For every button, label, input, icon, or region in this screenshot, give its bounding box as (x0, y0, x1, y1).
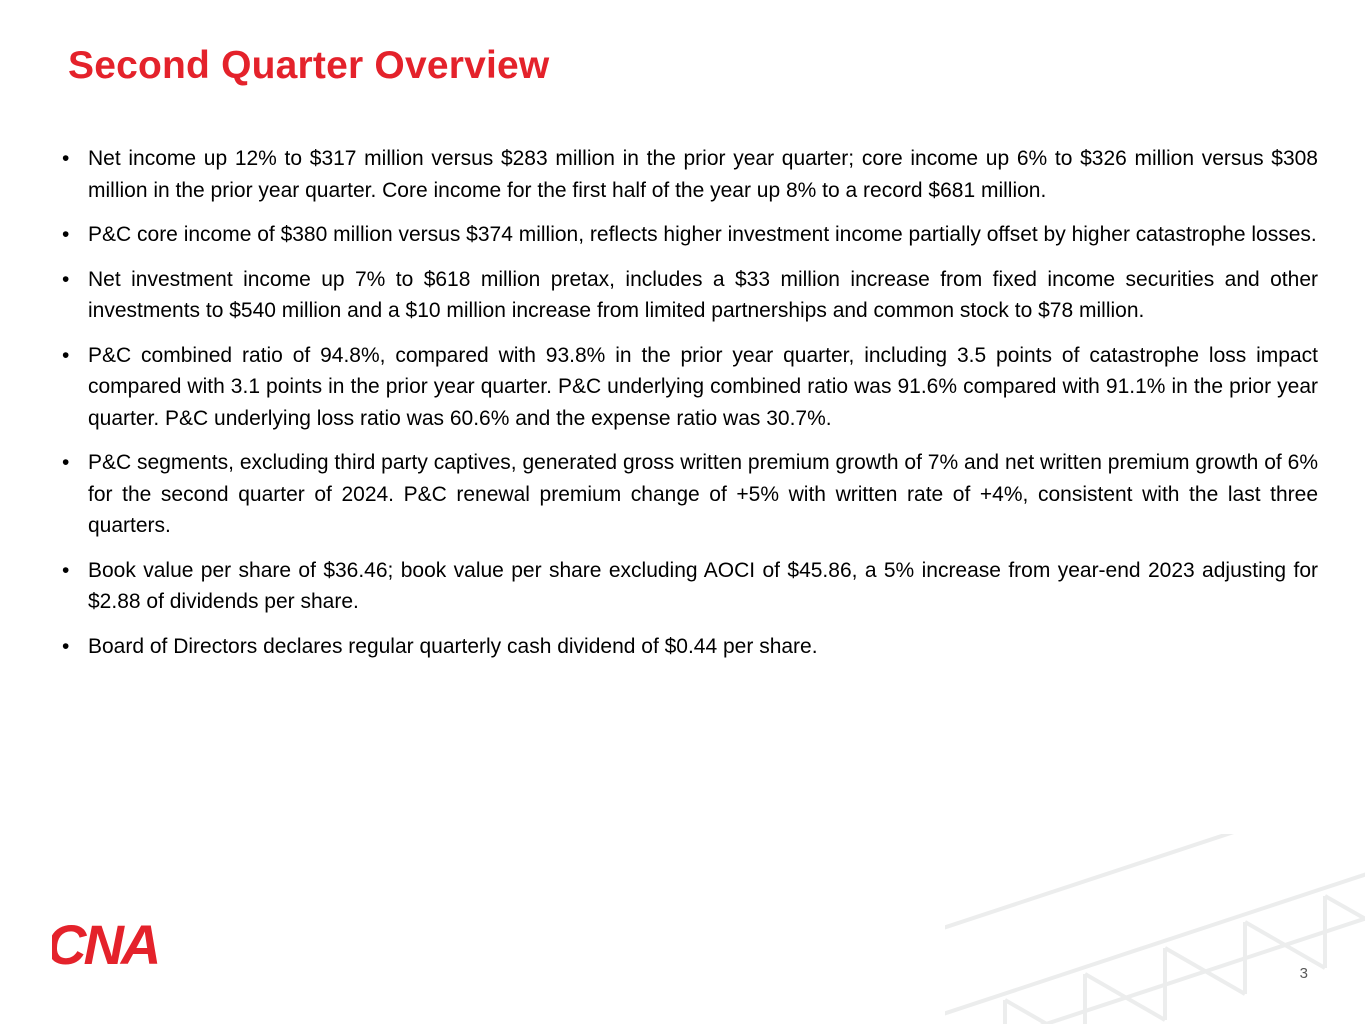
list-item: • Net investment income up 7% to $618 mi… (56, 264, 1318, 327)
page-number: 3 (1300, 965, 1308, 982)
list-item-text: Net investment income up 7% to $618 mill… (88, 264, 1318, 327)
bullet-list: • Net income up 12% to $317 million vers… (56, 143, 1318, 675)
bullet-point-icon: • (56, 143, 88, 175)
list-item-text: Net income up 12% to $317 million versus… (88, 143, 1318, 206)
list-item: • Book value per share of $36.46; book v… (56, 555, 1318, 618)
list-item-text: P&C core income of $380 million versus $… (88, 219, 1318, 251)
bullet-point-icon: • (56, 219, 88, 251)
bullet-point-icon: • (56, 340, 88, 372)
bullet-point-icon: • (56, 555, 88, 587)
bullet-point-icon: • (56, 264, 88, 296)
bullet-point-icon: • (56, 631, 88, 663)
cna-logo: CNA (52, 920, 202, 976)
list-item: • Board of Directors declares regular qu… (56, 631, 1318, 663)
list-item-text: Board of Directors declares regular quar… (88, 631, 1318, 663)
list-item-text: P&C combined ratio of 94.8%, compared wi… (88, 340, 1318, 435)
list-item: • P&C segments, excluding third party ca… (56, 447, 1318, 542)
svg-text:CNA: CNA (52, 920, 158, 976)
list-item-text: P&C segments, excluding third party capt… (88, 447, 1318, 542)
list-item: • Net income up 12% to $317 million vers… (56, 143, 1318, 206)
page-title: Second Quarter Overview (68, 44, 549, 88)
list-item: • P&C combined ratio of 94.8%, compared … (56, 340, 1318, 435)
list-item-text: Book value per share of $36.46; book val… (88, 555, 1318, 618)
slide-canvas: Second Quarter Overview • Net income up … (0, 0, 1365, 1024)
list-item: • P&C core income of $380 million versus… (56, 219, 1318, 251)
bullet-point-icon: • (56, 447, 88, 479)
lattice-watermark (945, 834, 1365, 1024)
